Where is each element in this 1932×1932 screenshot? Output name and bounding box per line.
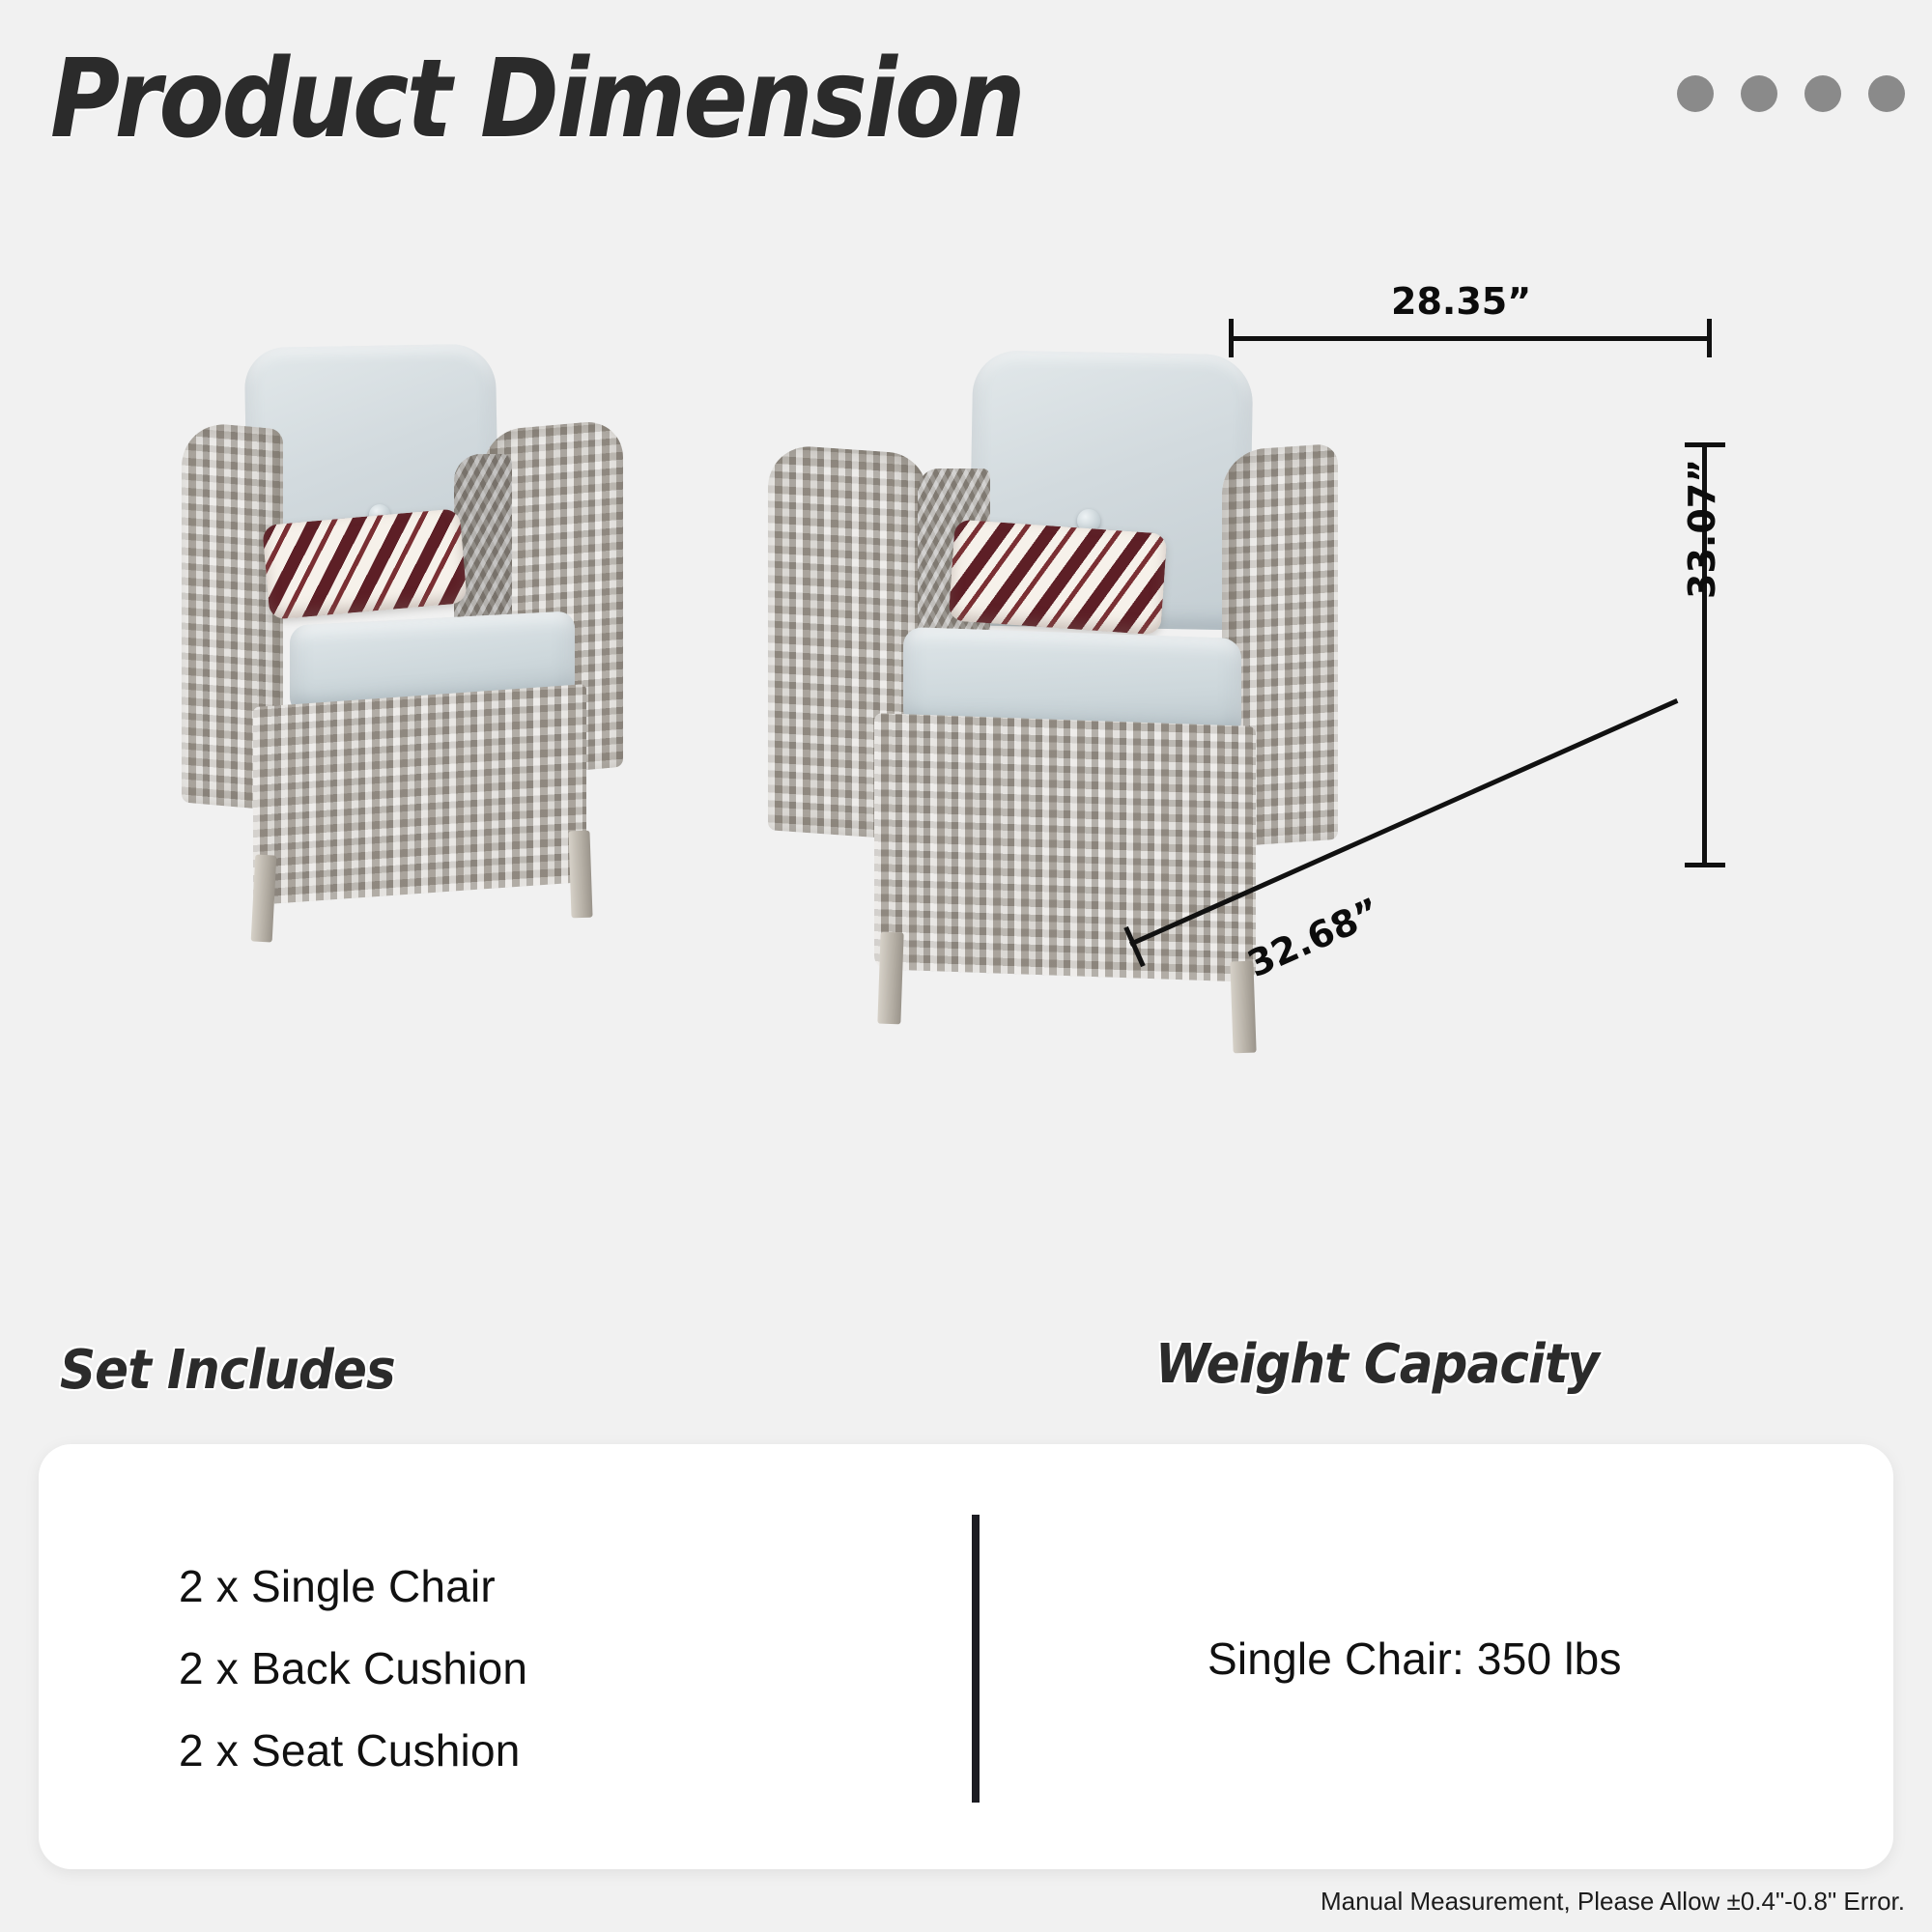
header: Product Dimension: [0, 0, 1932, 184]
dot-indicator-1: [1677, 75, 1714, 112]
weight-capacity-value: Single Chair: 350 lbs: [1207, 1633, 1622, 1685]
height-dimension-cap-top: [1685, 442, 1725, 447]
chair-right-accent-pillow: [949, 519, 1168, 635]
height-dimension-cap-bottom: [1685, 863, 1725, 867]
chair-right-base: [874, 713, 1256, 982]
dot-indicator-4: [1868, 75, 1905, 112]
vertical-divider: [972, 1515, 980, 1803]
width-dimension-line: [1229, 336, 1712, 341]
list-item: 2 x Single Chair: [179, 1560, 527, 1612]
chair-right-leg-front-left: [877, 932, 903, 1025]
chair-left-image: [164, 328, 705, 1024]
measurement-disclaimer: Manual Measurement, Please Allow ±0.4"-0…: [1321, 1887, 1905, 1917]
list-item: 2 x Seat Cushion: [179, 1724, 527, 1776]
chair-left-leg-front-right: [568, 831, 592, 919]
chair-left-base: [253, 684, 586, 905]
chair-left-leg-front-left: [251, 854, 277, 942]
set-includes-list: 2 x Single Chair 2 x Back Cushion 2 x Se…: [179, 1560, 527, 1776]
product-image-stage: 28.35” 33.07” 32.68”: [0, 184, 1932, 1304]
chair-left-accent-pillow: [262, 508, 468, 619]
height-dimension-label: 33.07”: [1681, 459, 1723, 599]
width-dimension-cap-left: [1229, 319, 1234, 357]
chair-right-image: [744, 333, 1343, 1116]
set-includes-heading: Set Includes: [60, 1339, 395, 1402]
list-item: 2 x Back Cushion: [179, 1642, 527, 1694]
dot-indicator-2: [1741, 75, 1777, 112]
width-dimension-cap-right: [1707, 319, 1712, 357]
page-title: Product Dimension: [50, 37, 1023, 162]
chair-right-leg-front-right: [1230, 961, 1256, 1054]
width-dimension-label: 28.35”: [1391, 280, 1531, 323]
pagination-dots: [1677, 75, 1905, 112]
dot-indicator-3: [1804, 75, 1841, 112]
weight-capacity-heading: Weight Capacity: [1155, 1333, 1599, 1396]
